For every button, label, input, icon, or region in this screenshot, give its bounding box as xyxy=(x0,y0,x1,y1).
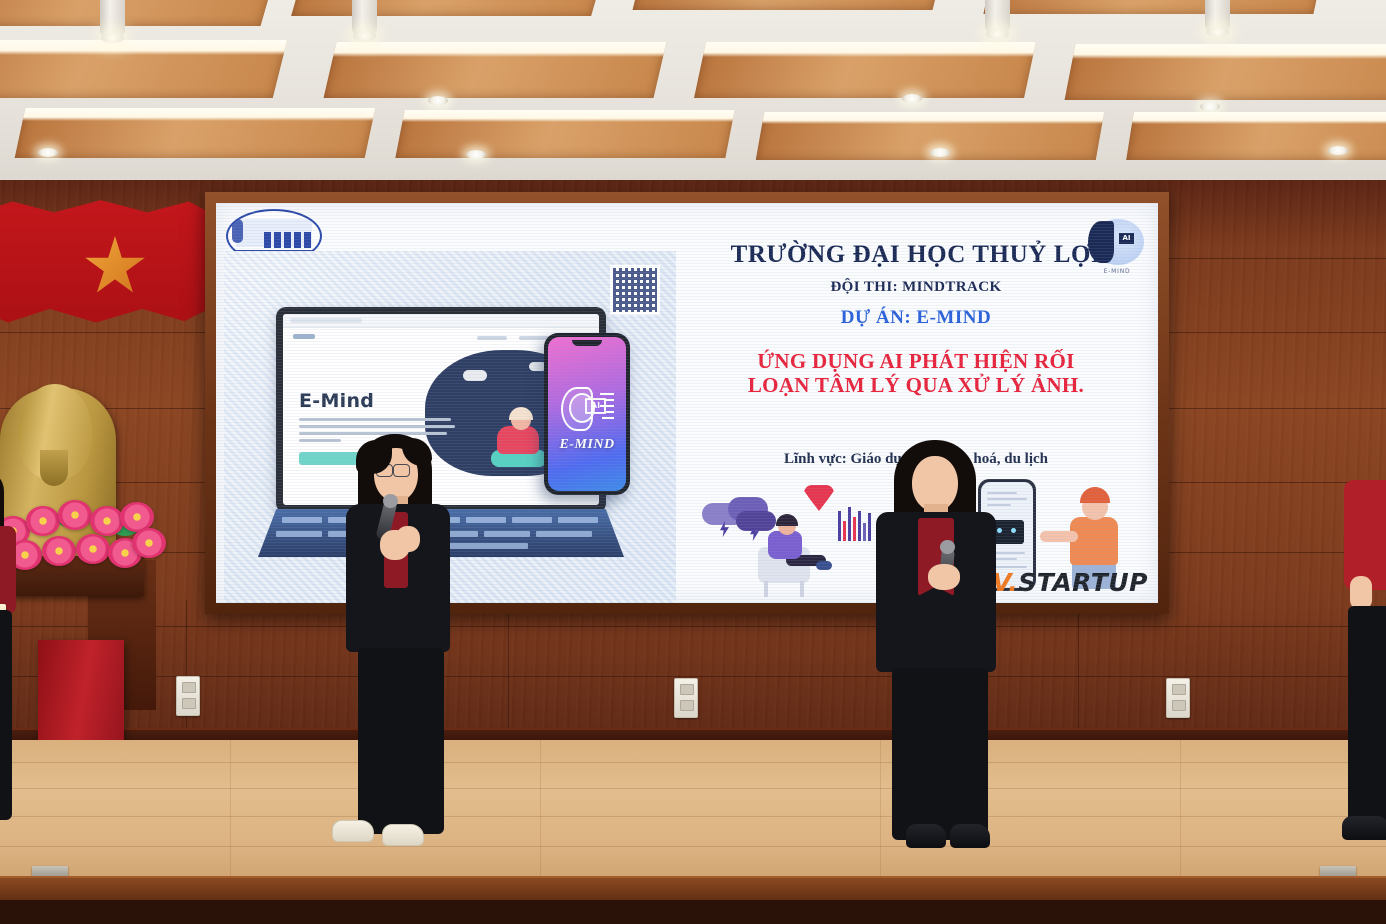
microphone-head xyxy=(383,494,398,508)
ceiling-downlight xyxy=(466,150,486,159)
qr-code[interactable] xyxy=(610,265,660,315)
vietnam-flag xyxy=(0,196,212,332)
phone-app-name: E-MIND xyxy=(548,437,626,453)
slide-team-line: ĐỘI THI: MINDTRACK xyxy=(678,279,1154,296)
ceiling-spotlight xyxy=(352,0,377,36)
stage-floor xyxy=(0,740,1386,882)
phone-mockup: AI E-MIND xyxy=(544,333,630,495)
ceiling-spotlight xyxy=(100,0,125,38)
presenter-left xyxy=(330,434,470,854)
broken-heart-icon xyxy=(804,485,834,513)
presenter-right-shoe xyxy=(950,824,990,848)
sponsor-logo-startup: STARTUP xyxy=(1018,568,1148,597)
slide-project-line: DỰ ÁN: E-MIND xyxy=(678,307,1154,329)
slide-headline-line2: LOẠN TÂM LÝ QUA XỬ LÝ ẢNH. xyxy=(678,373,1154,397)
ceiling xyxy=(0,0,1386,186)
wall-outlet xyxy=(1166,678,1190,718)
staff-left-edge xyxy=(0,470,52,870)
staff-right-edge xyxy=(1348,480,1386,870)
presenter-right xyxy=(866,440,1016,852)
ceiling-downlight xyxy=(930,148,950,157)
ceiling-downlight xyxy=(428,96,448,105)
slide-university-title: TRƯỜNG ĐẠI HỌC THUỶ LỢI xyxy=(678,241,1154,269)
staff-shoe xyxy=(1342,816,1386,840)
microphone-head xyxy=(940,540,955,554)
screenshot-root: 1959 E-Mind xyxy=(0,0,1386,924)
ceiling-spotlight xyxy=(1205,0,1230,32)
presenter-right-shoe xyxy=(906,824,946,848)
below-stage-area xyxy=(0,900,1386,924)
sad-person-illustration xyxy=(758,517,834,583)
wall-outlet xyxy=(176,676,200,716)
slide-headline-line1: ỨNG DỤNG AI PHÁT HIỆN RỐI xyxy=(678,349,1154,373)
ceiling-downlight xyxy=(902,94,922,103)
slide-headline: ỨNG DỤNG AI PHÁT HIỆN RỐI LOẠN TÂM LÝ QU… xyxy=(678,349,1154,398)
presenter-left-shoe xyxy=(332,820,374,842)
brain-ai-logo-icon: AI xyxy=(559,385,615,429)
mockup-web-title: E-Mind xyxy=(299,390,374,412)
ceiling-downlight xyxy=(38,148,58,157)
presenter-left-shoe xyxy=(382,824,424,846)
ceiling-downlight xyxy=(1200,102,1220,111)
wall-outlet xyxy=(674,678,698,718)
ceiling-downlight xyxy=(1328,146,1348,155)
ceiling-spotlight xyxy=(985,0,1010,34)
emind-logo-caption: E-MIND xyxy=(1086,268,1148,275)
